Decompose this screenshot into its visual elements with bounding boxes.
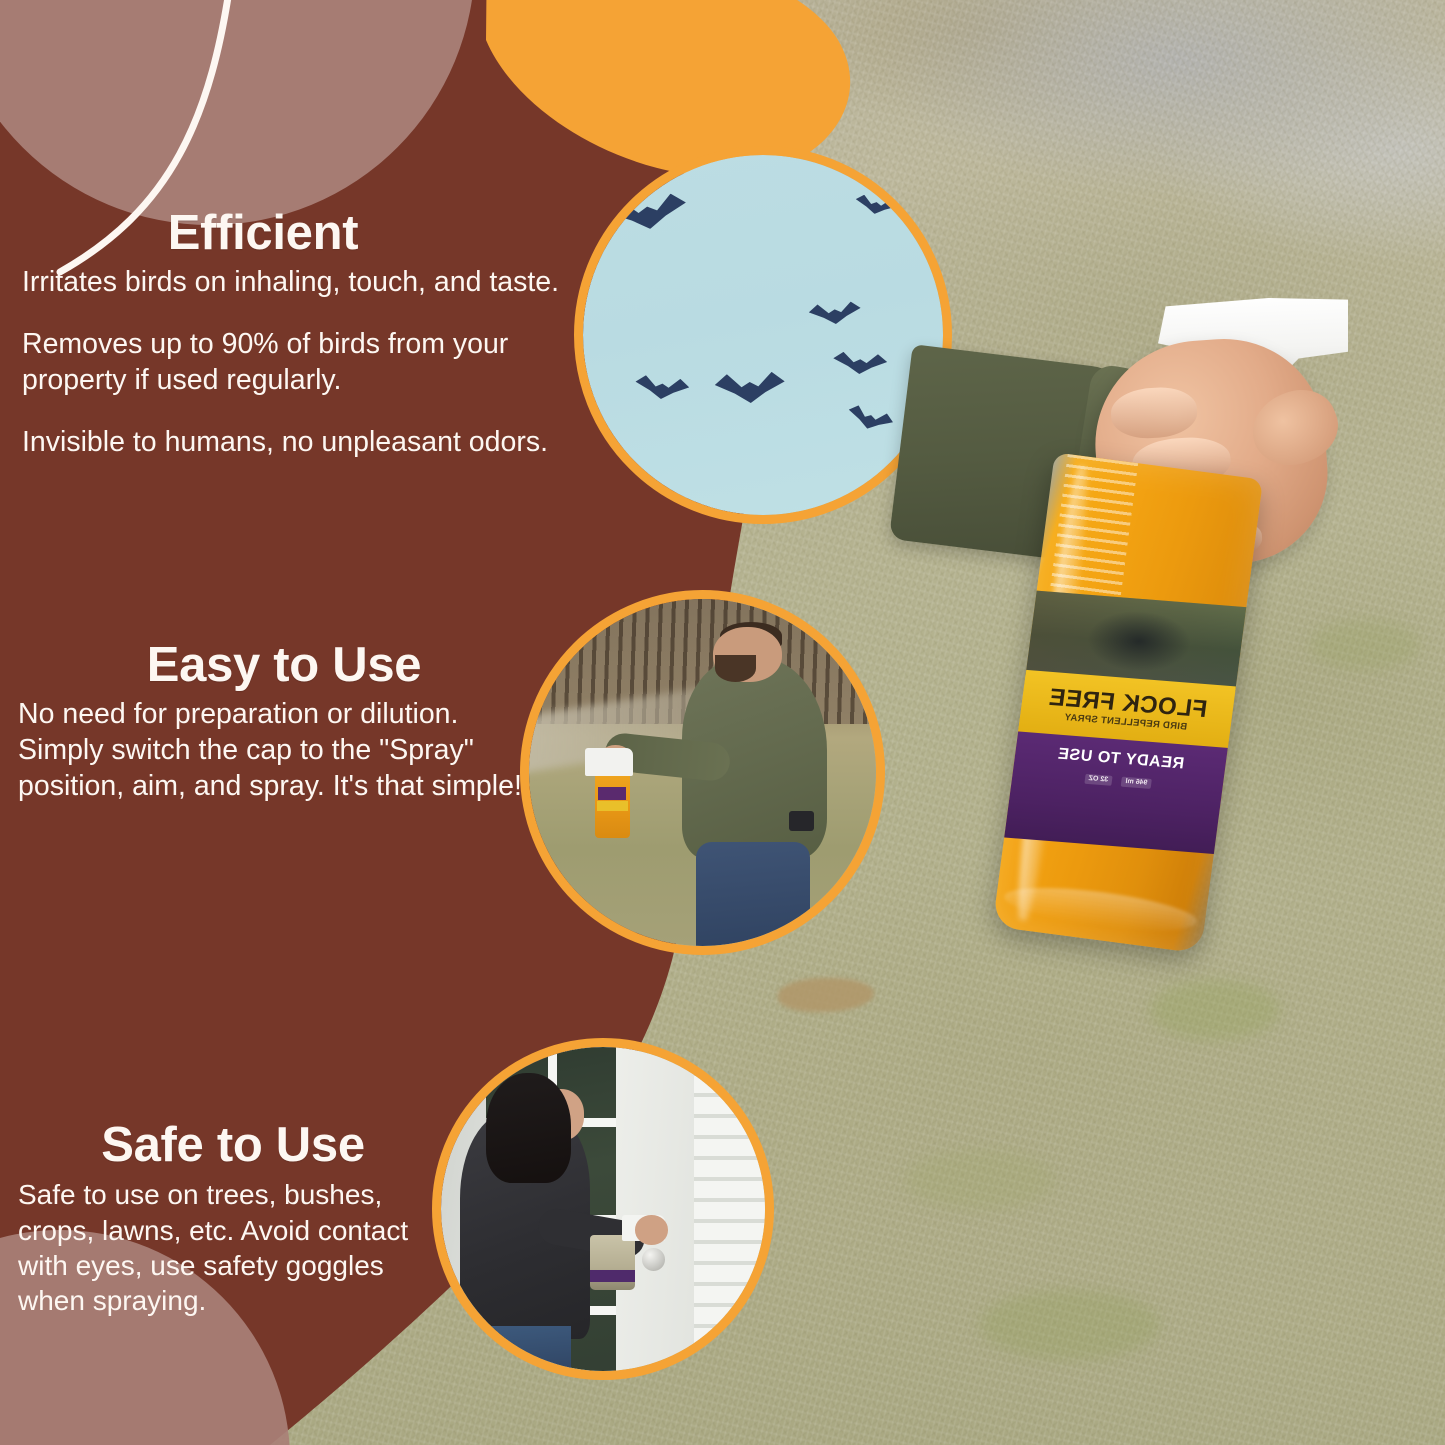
feature-title-efficient: Efficient — [28, 208, 498, 259]
feature-title-safe-to-use: Safe to Use — [38, 1120, 428, 1171]
spray-trigger-small — [585, 748, 634, 776]
bottle-base-highlight — [1003, 880, 1199, 938]
sky-background — [583, 155, 943, 515]
photo-bubble-man-spraying — [520, 590, 885, 955]
photo-bubble-woman-spraying — [432, 1038, 774, 1380]
feature-paragraph: Removes up to 90% of birds from your pro… — [22, 327, 562, 399]
feature-block-safe-to-use: Safe to Use Safe to use on trees, bushes… — [18, 1120, 458, 1319]
photo-bubble-birds — [574, 146, 952, 524]
bottle-label: FLOCK FREE BIRD REPELLENT SPRAY READY TO… — [996, 590, 1255, 854]
feature-paragraph: Safe to use on trees, bushes, crops, law… — [18, 1177, 458, 1318]
woman-hair — [486, 1073, 570, 1183]
feature-paragraph: Irritates birds on inhaling, touch, and … — [22, 265, 562, 301]
feature-paragraph: Invisible to humans, no unpleasant odors… — [22, 425, 562, 461]
infographic-canvas: Efficient Irritates birds on inhaling, t… — [0, 0, 1445, 1445]
feature-body-safe-to-use: Safe to use on trees, bushes, crops, law… — [18, 1177, 458, 1318]
man-jeans — [696, 842, 811, 946]
hero-product-shot: FLOCK FREE BIRD REPELLENT SPRAY READY TO… — [900, 280, 1445, 920]
woman-hand — [635, 1215, 667, 1244]
label-size-oz: 32 OZ — [1083, 773, 1112, 785]
grass-tuft — [1150, 980, 1280, 1040]
feature-paragraph: No need for preparation or dilution. Sim… — [18, 697, 538, 805]
knuckle — [1109, 385, 1198, 441]
feature-body-efficient: Irritates birds on inhaling, touch, and … — [22, 265, 562, 461]
grass-tuft — [980, 1290, 1160, 1360]
spray-bottle-small — [590, 1235, 635, 1290]
spray-bottle-small — [595, 769, 630, 838]
feature-title-easy-to-use: Easy to Use — [64, 640, 504, 691]
bubble-inner-man — [529, 599, 876, 946]
label-size-row: 32 OZ 946 ml — [1083, 773, 1151, 789]
label-ready-to-use: READY TO USE — [1056, 746, 1185, 772]
feature-block-efficient: Efficient Irritates birds on inhaling, t… — [22, 208, 562, 461]
wrist-watch — [789, 811, 813, 832]
grass-tuft — [905, 1150, 1055, 1210]
vinyl-siding — [694, 1047, 765, 1371]
label-ready-band: READY TO USE 32 OZ 946 ml — [996, 730, 1236, 854]
bubble-inner-woman — [441, 1047, 765, 1371]
bubble-inner-birds — [583, 155, 943, 515]
door-knob — [642, 1248, 665, 1271]
feature-block-easy-to-use: Easy to Use No need for preparation or d… — [18, 640, 538, 805]
feature-body-easy-to-use: No need for preparation or dilution. Sim… — [18, 697, 538, 805]
label-size-ml: 946 ml — [1121, 776, 1152, 789]
woman-jeans — [473, 1326, 570, 1371]
